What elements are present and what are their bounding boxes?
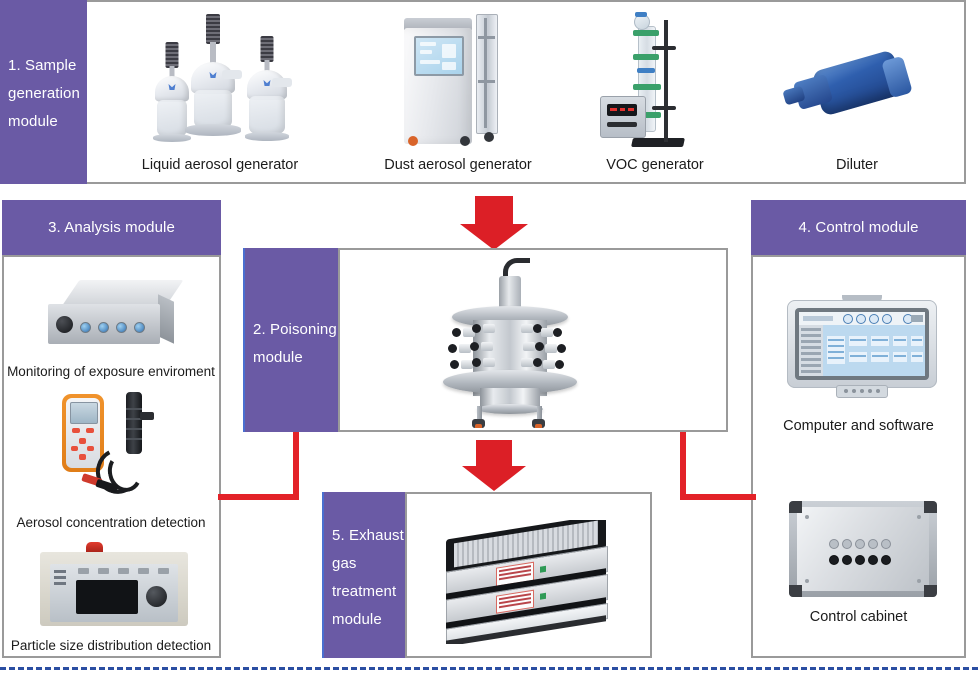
module-5-header-line-3: treatment [332, 578, 405, 606]
module-3-item-2-caption: Aerosol concentration detection [4, 514, 218, 531]
module-4-header-line-1: 4. Control module [751, 200, 966, 255]
voc-generator-photo [600, 8, 710, 150]
exposure-chamber-photo [425, 254, 595, 428]
particle-size-analyzer-photo [34, 540, 194, 635]
module-1-item-2-caption: Dust aerosol generator [358, 157, 558, 174]
connector-poisoning-to-control-horizontal [680, 494, 756, 500]
diluter-photo [782, 44, 932, 136]
module-1-item-1-caption: Liquid aerosol generator [120, 157, 320, 174]
module-3-item-1-caption: Monitoring of exposure enviroment [4, 363, 218, 380]
module-1-header-line-2: generation [8, 80, 87, 108]
diagram-canvas: 1. Sample generation module [0, 0, 978, 681]
module-3-item-3-caption: Particle size distribution detection [2, 637, 220, 654]
environment-monitor-photo [40, 274, 190, 362]
bottom-dashed-divider [0, 667, 978, 670]
liquid-aerosol-generator-photo [130, 14, 310, 148]
module-4-item-2-caption: Control cabinet [756, 609, 961, 626]
module-5-header: 5. Exhaust gas treatment module [322, 492, 405, 658]
module-4-header: 4. Control module [751, 200, 966, 255]
dust-aerosol-generator-photo [398, 10, 518, 150]
module-1-item-4-caption: Diluter [772, 157, 942, 174]
module-5-header-line-1: 5. Exhaust [332, 522, 405, 550]
module-1-header: 1. Sample generation module [0, 0, 87, 184]
module-2-header-line-1: 2. Poisoning [253, 316, 338, 344]
hepa-filter-stack-photo [432, 520, 632, 644]
module-1-header-line-3: module [8, 108, 87, 136]
module-3-header: 3. Analysis module [2, 200, 221, 255]
flow-arrow-poisoning-to-exhaust [458, 440, 530, 492]
module-5-header-line-4: module [332, 606, 405, 634]
computer-software-photo [787, 295, 937, 405]
connector-poisoning-to-analysis-horizontal [218, 494, 299, 500]
module-2-header: 2. Poisoning module [243, 248, 338, 432]
connector-poisoning-to-control-vertical [680, 432, 686, 500]
control-cabinet-photo [785, 495, 940, 605]
module-4-item-1-caption: Computer and software [756, 418, 961, 435]
connector-poisoning-to-analysis-vertical [293, 432, 299, 500]
module-1-header-line-1: 1. Sample [8, 52, 87, 80]
module-3-header-line-1: 3. Analysis module [2, 200, 221, 255]
module-2-header-line-2: module [253, 344, 338, 372]
aerosol-concentration-detector-photo [52, 390, 182, 502]
module-5-header-line-2: gas [332, 550, 405, 578]
flow-arrow-sample-to-poisoning [458, 196, 530, 251]
module-1-item-3-caption: VOC generator [570, 157, 740, 174]
